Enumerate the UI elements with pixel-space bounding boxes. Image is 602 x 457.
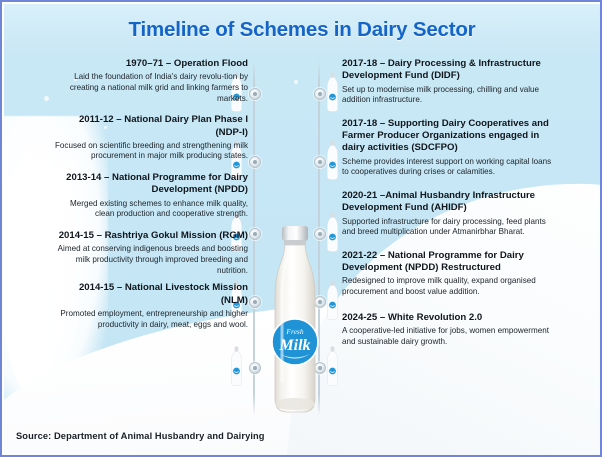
entry-description: Promoted employment, entrepreneurship an…	[52, 309, 248, 330]
entry-heading: 2013-14 – National Programme for Dairy D…	[52, 172, 248, 197]
timeline-column-left: 1970–71 – Operation Flood Laid the found…	[52, 56, 248, 336]
milk-bottle-icon	[325, 140, 340, 182]
entry-description: Merged existing schemes to enhance milk …	[52, 199, 248, 220]
entry-heading: 2024-25 – White Revolution 2.0	[342, 312, 552, 324]
entry-description: Supported infrastructure for dairy proce…	[342, 217, 552, 238]
footer-bar: Source: Department of Animal Husbandry a…	[4, 419, 600, 453]
timeline-dot	[249, 88, 261, 100]
timeline-entry: 2013-14 – National Programme for Dairy D…	[52, 172, 248, 220]
milk-bottle-icon	[229, 346, 244, 388]
infographic-canvas: Fresh Milk 1970–71 – Operation Flood Lai…	[4, 56, 600, 455]
bottle-label-fresh: Fresh	[285, 327, 303, 336]
bubble-decor	[294, 80, 298, 84]
timeline-entry: 1970–71 – Operation Flood Laid the found…	[52, 58, 248, 104]
timeline-dot	[249, 228, 261, 240]
entry-description: A cooperative-led initiative for jobs, w…	[342, 326, 552, 347]
timeline-entry: 2024-25 – White Revolution 2.0 A coopera…	[342, 312, 552, 348]
timeline-column-right: 2017-18 – Dairy Processing & Infrastruct…	[342, 56, 552, 353]
bubble-decor	[44, 96, 49, 101]
entry-heading: 2014-15 – National Livestock Mission (NL…	[52, 282, 248, 307]
timeline-entry: 2020-21 –Animal Husbandry Infrastructure…	[342, 190, 552, 238]
entry-description: Set up to modernise milk processing, chi…	[342, 85, 552, 106]
entry-heading: 2017-18 – Dairy Processing & Infrastruct…	[342, 58, 552, 83]
timeline-dot	[249, 362, 261, 374]
entry-heading: 2017-18 – Supporting Dairy Cooperatives …	[342, 118, 552, 155]
timeline-dot	[249, 156, 261, 168]
milk-bottle-icon	[325, 72, 340, 114]
timeline-entry: 2017-18 – Supporting Dairy Cooperatives …	[342, 118, 552, 178]
infographic-root: Timeline of Schemes in Dairy Sector pib …	[0, 0, 602, 457]
timeline-entry: 2014-15 – National Livestock Mission (NL…	[52, 282, 248, 330]
source-label: Source: Department of Animal Husbandry a…	[4, 431, 265, 441]
page-title: Timeline of Schemes in Dairy Sector	[129, 18, 476, 42]
entry-heading: 2014-15 – Rashtriya Gokul Mission (RGM)	[52, 230, 248, 242]
milk-bottle-hero: Fresh Milk	[262, 224, 328, 420]
entry-heading: 2011-12 – National Dairy Plan Phase I (N…	[52, 114, 248, 139]
timeline-entry: 2021-22 – National Programme for Dairy D…	[342, 250, 552, 298]
header-bar: Timeline of Schemes in Dairy Sector	[4, 4, 600, 56]
entry-description: Redesigned to improve milk quality, expa…	[342, 276, 552, 297]
timeline-entry: 2011-12 – National Dairy Plan Phase I (N…	[52, 114, 248, 162]
entry-heading: 1970–71 – Operation Flood	[52, 58, 248, 70]
entry-description: Focused on scientific breeding and stren…	[52, 141, 248, 162]
bubble-decor	[52, 356, 55, 359]
timeline-dot	[249, 296, 261, 308]
entry-heading: 2020-21 –Animal Husbandry Infrastructure…	[342, 190, 552, 215]
timeline-entry: 2014-15 – Rashtriya Gokul Mission (RGM) …	[52, 230, 248, 276]
entry-description: Aimed at conserving indigenous breeds an…	[52, 244, 248, 276]
bubble-decor	[26, 152, 30, 156]
entry-description: Laid the foundation of India's dairy rev…	[52, 72, 248, 104]
entry-description: Scheme provides interest support on work…	[342, 157, 552, 178]
timeline-entry: 2017-18 – Dairy Processing & Infrastruct…	[342, 58, 552, 106]
entry-heading: 2021-22 – National Programme for Dairy D…	[342, 250, 552, 275]
